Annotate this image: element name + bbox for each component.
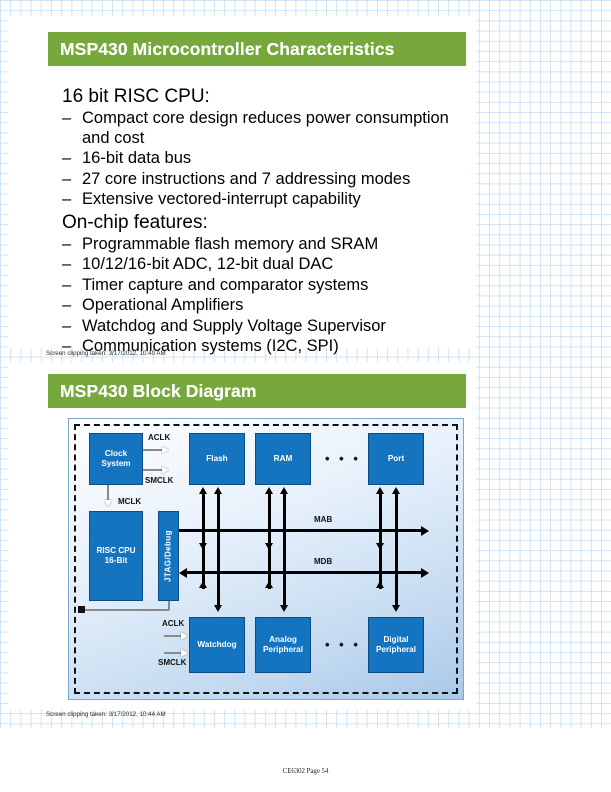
block-watchdog: Watchdog xyxy=(189,617,245,673)
slide2-title-text: MSP430 Block Diagram xyxy=(48,381,257,402)
block-risc-cpu-line1: RISC CPU xyxy=(96,546,135,556)
msp430-block-diagram: Clock System Flash RAM • • • Port ACLK S… xyxy=(68,418,464,700)
section-heading-risc-cpu: 16 bit RISC CPU: xyxy=(62,86,472,108)
screen-clipping-caption-2: Screen clipping taken: 3/17/2012, 10:44 … xyxy=(46,711,166,718)
slide2-title-bar: MSP430 Block Diagram xyxy=(48,374,466,408)
ram-mdb-line xyxy=(283,493,286,607)
bullet-list-risc-cpu: – Compact core design reduces power cons… xyxy=(62,109,472,210)
slide1-content: 16 bit RISC CPU: – Compact core design r… xyxy=(62,86,472,359)
block-flash: Flash xyxy=(189,433,245,485)
bullet-dash: – xyxy=(62,109,71,129)
list-item: – Programmable flash memory and SRAM xyxy=(62,235,472,255)
bullet-dash: – xyxy=(62,317,71,337)
flash-mdb-arrow-down-icon xyxy=(214,605,222,612)
list-item: – 16-bit data bus xyxy=(62,149,472,169)
port-mab-arrow-up-icon xyxy=(376,487,384,494)
block-risc-cpu-line2: 16-Bit xyxy=(105,556,128,566)
bullet-text: Timer capture and comparator systems xyxy=(82,276,472,296)
block-ram: RAM xyxy=(255,433,311,485)
aclk-top-line xyxy=(143,449,163,451)
block-clock-system-line2: System xyxy=(101,459,130,469)
list-item: – 10/12/16-bit ADC, 12-bit dual DAC xyxy=(62,255,472,275)
bullet-dash: – xyxy=(62,276,71,296)
smclk-top-arrow-icon xyxy=(162,466,169,474)
flash-mdb-line xyxy=(217,493,220,607)
bullet-text: Operational Amplifiers xyxy=(82,296,472,316)
bullet-dash: – xyxy=(62,149,71,169)
mab-bus-line xyxy=(179,529,423,532)
flash-mdb-arrow-up2-icon xyxy=(199,581,207,588)
ram-mdb-arrow-up-icon xyxy=(280,487,288,494)
page-footer-text: CE6302 Page 54 xyxy=(0,768,611,775)
block-analog-line2: Peripheral xyxy=(263,645,303,655)
port-mab-line xyxy=(379,493,382,589)
block-digital-line2: Peripheral xyxy=(376,645,416,655)
ram-mab-arrow-up-icon xyxy=(265,487,273,494)
list-item: – Compact core design reduces power cons… xyxy=(62,109,472,148)
slide1-title-bar: MSP430 Microcontroller Characteristics xyxy=(48,32,466,66)
block-port-label: Port xyxy=(388,454,404,464)
section-heading-onchip-features: On-chip features: xyxy=(62,212,472,234)
port-mdb-arrow-down-icon xyxy=(392,605,400,612)
block-digital-peripheral: Digital Peripheral xyxy=(368,617,424,673)
list-item: – Timer capture and comparator systems xyxy=(62,276,472,296)
block-analog-line1: Analog xyxy=(269,635,297,645)
ram-mab-line xyxy=(268,493,271,589)
block-digital-line1: Digital xyxy=(383,635,408,645)
block-ram-label: RAM xyxy=(274,454,293,464)
port-mdb-line xyxy=(395,493,398,607)
list-item: – Extensive vectored-interrupt capabilit… xyxy=(62,190,472,210)
label-smclk-bottom: SMCLK xyxy=(158,658,186,667)
port-mab-arrow-down-icon xyxy=(376,543,384,550)
bullet-text: 27 core instructions and 7 addressing mo… xyxy=(82,170,472,190)
bullet-text: 10/12/16-bit ADC, 12-bit dual DAC xyxy=(82,255,472,275)
cpu-node-line-v xyxy=(168,601,170,610)
bullet-text: Compact core design reduces power consum… xyxy=(82,109,472,148)
port-mdb-arrow-up2-icon xyxy=(376,581,384,588)
mclk-line xyxy=(107,485,109,501)
block-clock-system: Clock System xyxy=(89,433,143,485)
block-watchdog-label: Watchdog xyxy=(197,640,236,650)
block-jtag-debug-label: JTAG/Debug xyxy=(164,530,174,582)
aclk-bottom-line xyxy=(164,635,182,637)
aclk-bottom-arrow-icon xyxy=(181,632,188,640)
smclk-bottom-arrow-icon xyxy=(181,649,188,657)
list-item: – Operational Amplifiers xyxy=(62,296,472,316)
aclk-top-arrow-icon xyxy=(162,446,169,454)
slide1-title-text: MSP430 Microcontroller Characteristics xyxy=(48,39,394,60)
mdb-bus-line xyxy=(187,571,423,574)
ram-mdb-arrow-up2-icon xyxy=(265,581,273,588)
mdb-bus-arrow-left-icon xyxy=(179,568,187,578)
bullet-dash: – xyxy=(62,190,71,210)
mclk-arrow-icon xyxy=(104,500,112,507)
flash-mdb-arrow-up-icon xyxy=(214,487,222,494)
flash-mab-line xyxy=(202,493,205,589)
label-mclk: MCLK xyxy=(118,497,141,506)
list-item: – 27 core instructions and 7 addressing … xyxy=(62,170,472,190)
ellipsis-bottom: • • • xyxy=(325,641,361,649)
page-footer-panel xyxy=(0,728,611,792)
cpu-ground-node xyxy=(78,606,85,613)
block-clock-system-line1: Clock xyxy=(105,449,127,459)
flash-mab-arrow-down-icon xyxy=(199,543,207,550)
block-analog-peripheral: Analog Peripheral xyxy=(255,617,311,673)
port-mdb-arrow-up-icon xyxy=(392,487,400,494)
ellipsis-top: • • • xyxy=(325,455,361,463)
block-port: Port xyxy=(368,433,424,485)
block-risc-cpu: RISC CPU 16-Bit xyxy=(89,511,143,601)
smclk-top-line xyxy=(143,469,163,471)
screen-clipping-caption-1: Screen clipping taken: 3/17/2012, 10:40 … xyxy=(46,350,166,357)
label-aclk-top: ACLK xyxy=(148,433,170,442)
label-mab: MAB xyxy=(314,515,332,524)
bullet-dash: – xyxy=(62,170,71,190)
bullet-dash: – xyxy=(62,255,71,275)
mab-bus-arrow-icon xyxy=(421,526,429,536)
ram-mab-arrow-down-icon xyxy=(265,543,273,550)
bullet-list-onchip-features: – Programmable flash memory and SRAM – 1… xyxy=(62,235,472,357)
bullet-text: 16-bit data bus xyxy=(82,149,472,169)
bullet-text: Watchdog and Supply Voltage Supervisor xyxy=(82,317,472,337)
bullet-text: Extensive vectored-interrupt capability xyxy=(82,190,472,210)
block-flash-label: Flash xyxy=(206,454,227,464)
smclk-bottom-line xyxy=(164,652,182,654)
bullet-text: Programmable flash memory and SRAM xyxy=(82,235,472,255)
ram-mdb-arrow-down-icon xyxy=(280,605,288,612)
mdb-bus-arrow-right-icon xyxy=(421,568,429,578)
label-mdb: MDB xyxy=(314,557,332,566)
bullet-dash: – xyxy=(62,235,71,255)
flash-mab-arrow-up-icon xyxy=(199,487,207,494)
block-jtag-debug: JTAG/Debug xyxy=(158,511,179,601)
cpu-node-line-h xyxy=(85,609,169,611)
label-smclk-top: SMCLK xyxy=(145,476,173,485)
label-aclk-bottom: ACLK xyxy=(162,619,184,628)
list-item: – Watchdog and Supply Voltage Supervisor xyxy=(62,317,472,337)
bullet-dash: – xyxy=(62,296,71,316)
